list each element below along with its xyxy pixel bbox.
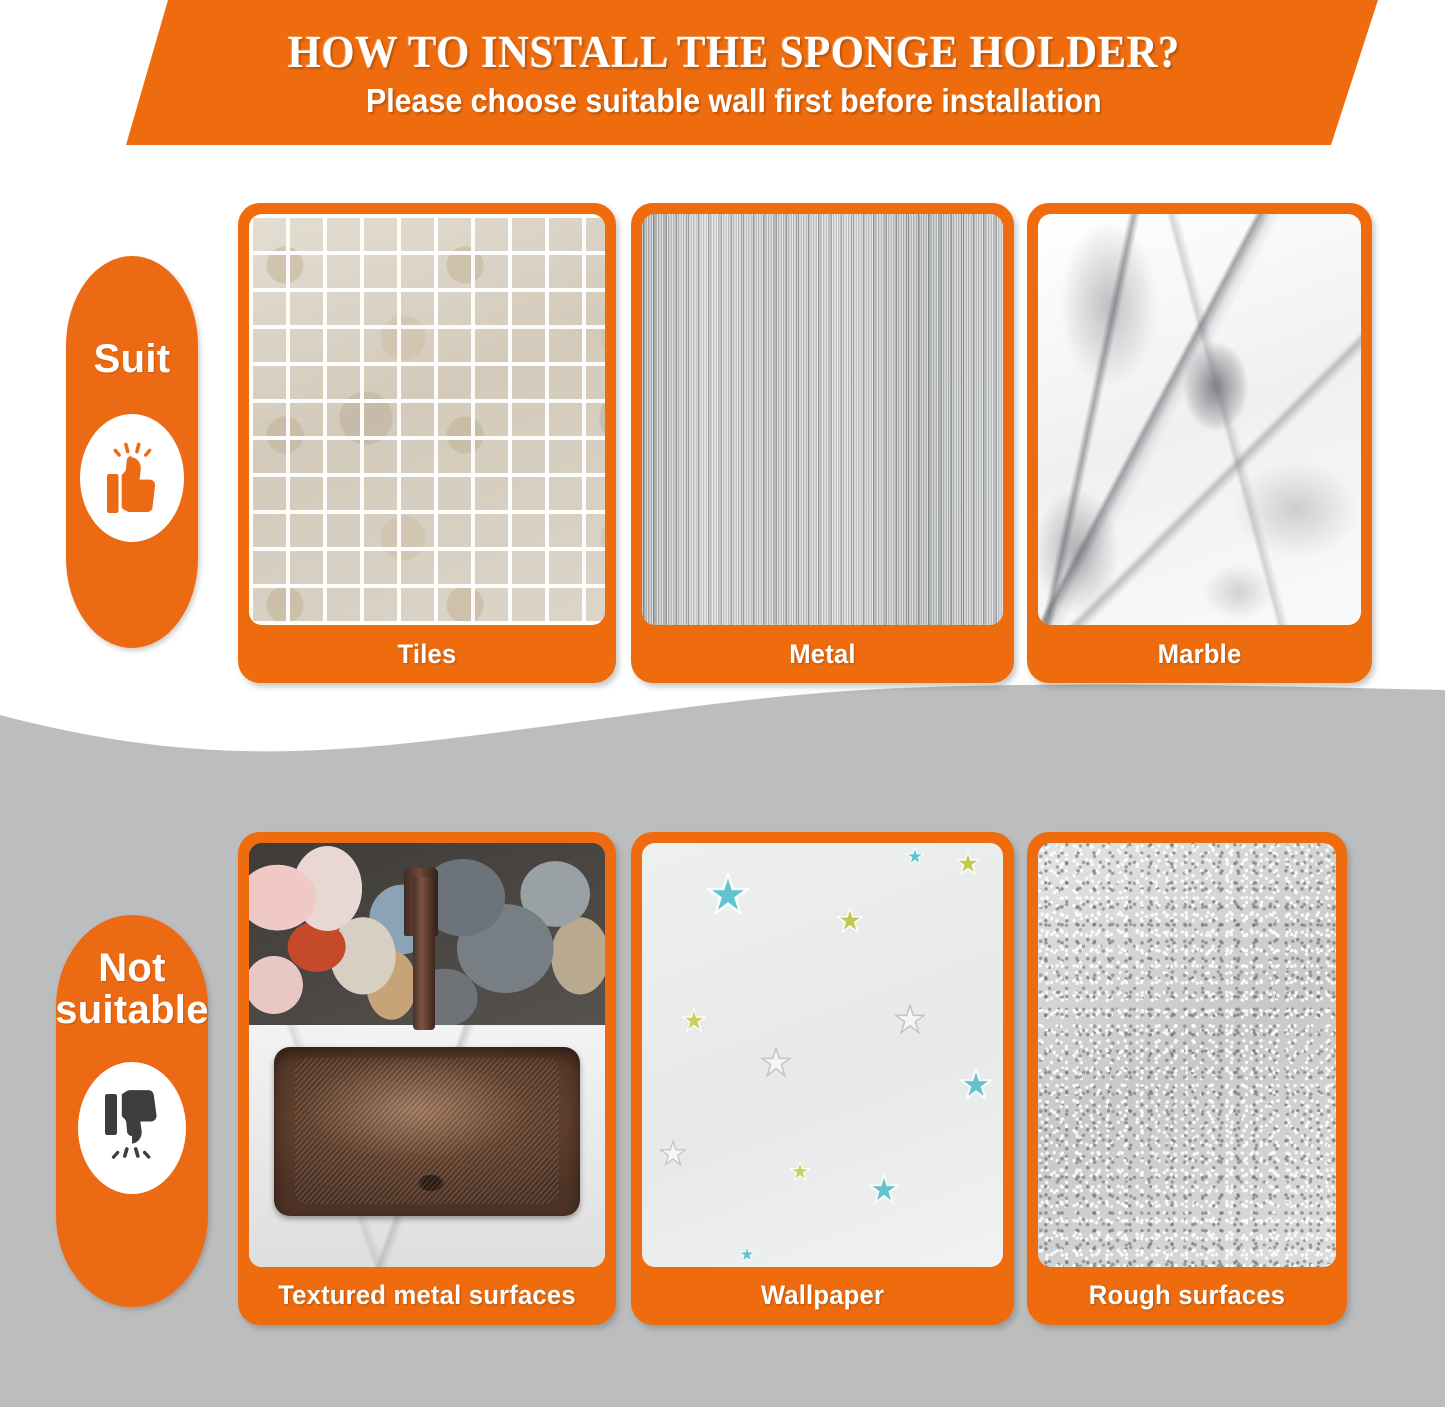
not-suitable-label-line2: suitable — [55, 988, 209, 1032]
card-marble[interactable]: Marble — [1027, 203, 1372, 683]
not-suitable-icon-circle — [78, 1062, 186, 1194]
wallpaper-star-icon — [739, 1246, 755, 1262]
card-caption-wallpaper: Wallpaper — [641, 1265, 1005, 1325]
metal-photo — [642, 214, 1003, 625]
wallpaper-star-icon — [682, 1008, 706, 1032]
card-textured-metal-surfaces[interactable]: Textured metal surfaces — [238, 832, 616, 1325]
card-rough-surfaces[interactable]: Rough surfaces — [1027, 832, 1347, 1325]
marble-photo — [1038, 214, 1361, 625]
rough-surface-photo — [1038, 843, 1336, 1267]
page-title: HOW TO INSTALL THE SPONGE HOLDER? — [287, 29, 1179, 75]
suit-icon-circle — [80, 414, 184, 542]
wallpaper-star-icon — [761, 1047, 791, 1077]
tiles-photo — [249, 214, 605, 625]
card-metal[interactable]: Metal — [631, 203, 1014, 683]
wallpaper-star-icon — [960, 1068, 992, 1100]
wallpaper-star-icon — [869, 1174, 899, 1204]
wallpaper-star-icon — [895, 1004, 925, 1034]
not-suitable-badge: Not suitable — [56, 915, 208, 1307]
page-subtitle: Please choose suitable wall first before… — [366, 84, 1102, 117]
sink-drain — [418, 1175, 444, 1191]
thumbs-up-icon — [101, 442, 163, 514]
hammered-copper-basin — [274, 1047, 580, 1217]
suit-badge: Suit — [66, 256, 198, 648]
card-caption-metal: Metal — [641, 625, 1005, 683]
not-suitable-label-line1: Not — [98, 946, 166, 990]
faucet-spout — [413, 877, 435, 1030]
thumbs-down-icon — [99, 1090, 165, 1166]
card-wallpaper[interactable]: Wallpaper — [631, 832, 1014, 1325]
textured-metal-sink-photo — [249, 843, 605, 1267]
wallpaper-star-icon — [837, 907, 863, 933]
card-caption-textured-metal-surfaces: Textured metal surfaces — [247, 1265, 606, 1325]
header-banner: HOW TO INSTALL THE SPONGE HOLDER? Please… — [0, 0, 1445, 145]
card-caption-tiles: Tiles — [247, 625, 606, 683]
not-suitable-badge-label: Not suitable — [55, 947, 209, 1032]
card-tiles[interactable]: Tiles — [238, 203, 616, 683]
suit-badge-label: Suit — [94, 338, 171, 380]
wallpaper-star-icon — [707, 873, 749, 915]
wallpaper-star-icon — [956, 851, 980, 875]
card-caption-marble: Marble — [1036, 625, 1364, 683]
wallpaper-star-icon — [790, 1161, 810, 1181]
card-caption-rough-surfaces: Rough surfaces — [1035, 1265, 1339, 1325]
wallpaper-star-icon — [906, 847, 924, 865]
wallpaper-photo — [642, 843, 1003, 1267]
wallpaper-star-icon — [660, 1140, 686, 1166]
